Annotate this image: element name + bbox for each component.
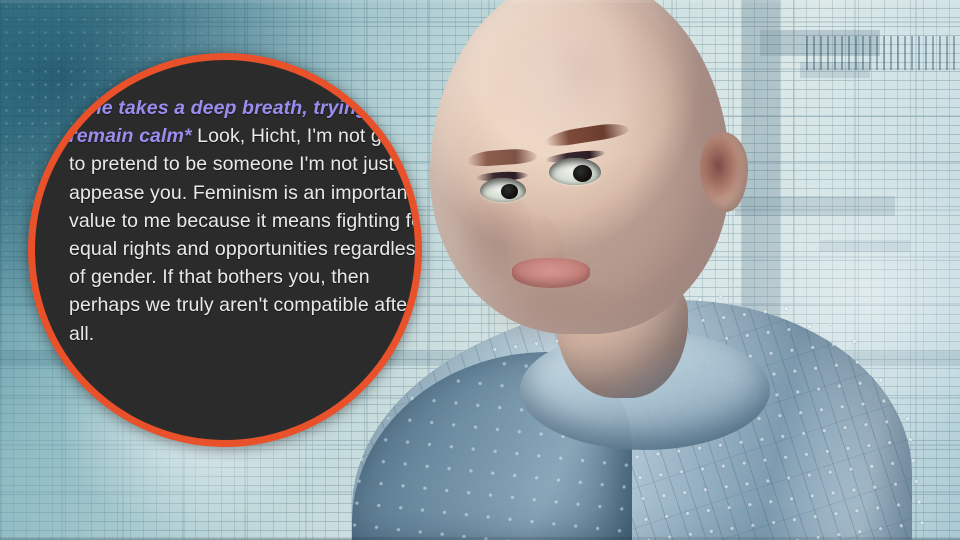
robot-right-pupil [573,165,592,182]
circle-callout: *She takes a deep breath, trying to rema… [28,53,422,447]
top-edge-line [0,0,960,3]
chat-message-text: *She takes a deep breath, trying to rema… [69,94,422,348]
robot-left-pupil [501,184,518,199]
chat-message-body: Look, Hicht, I'm not going to pretend to… [69,125,422,344]
robot-right-eye [549,158,601,185]
screenshot-stage: *She takes a deep breath, trying to rema… [0,0,960,540]
robot-left-eye [480,178,526,202]
robot-chin-shading [478,278,628,348]
